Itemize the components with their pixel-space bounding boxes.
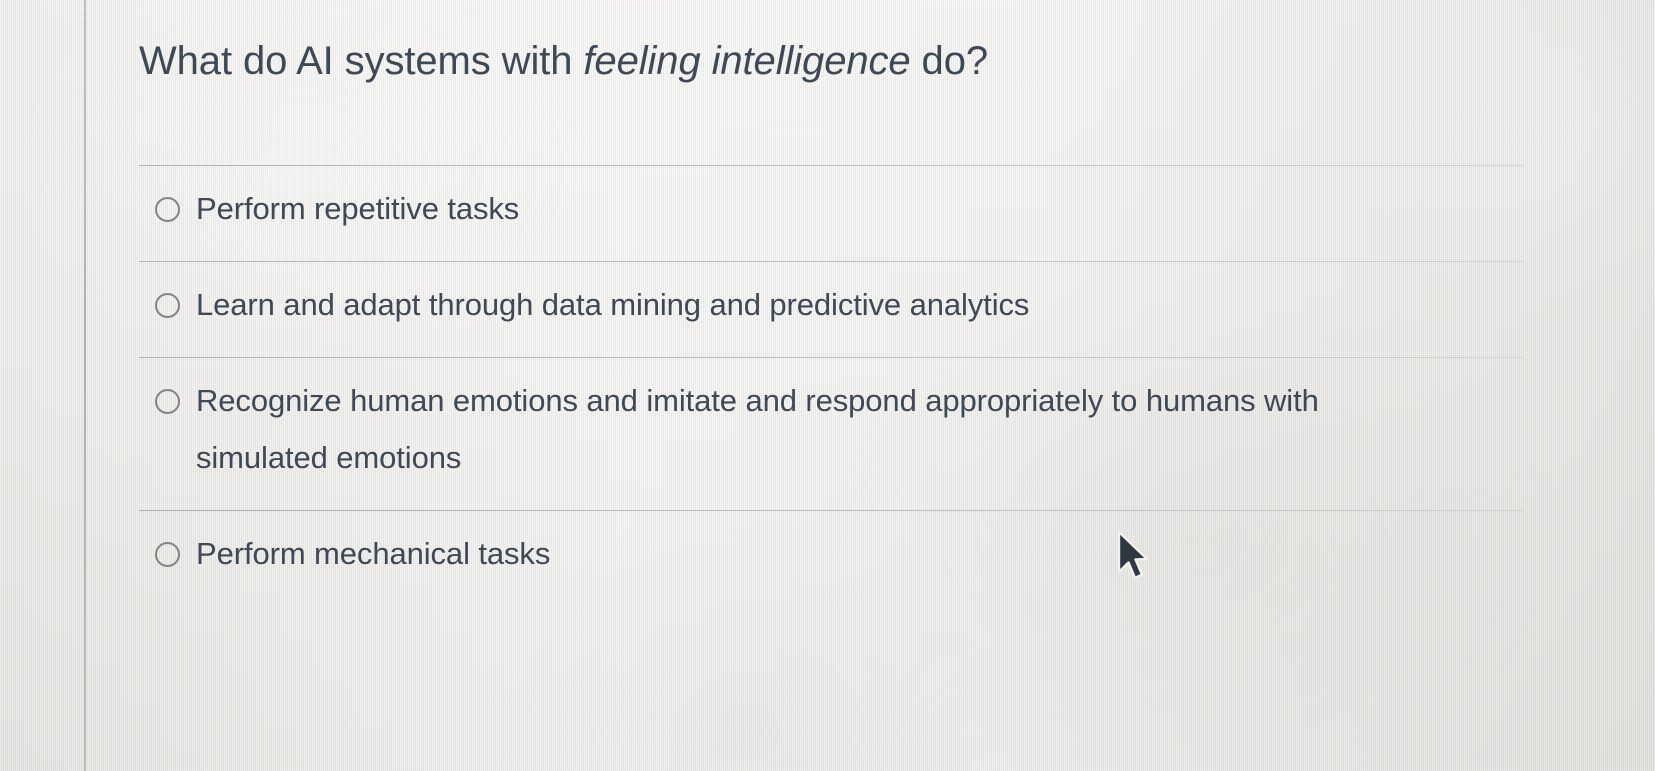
radio-unchecked-icon[interactable] [155,389,180,414]
question-text-emphasis: feeling intelligence [583,39,910,83]
answer-options-list: Perform repetitive tasks Learn and adapt… [139,165,1523,606]
answer-option-2[interactable]: Learn and adapt through data mining and … [139,262,1523,357]
radio-unchecked-icon[interactable] [155,293,180,318]
answer-option-1[interactable]: Perform repetitive tasks [139,166,1523,261]
radio-unchecked-icon[interactable] [155,542,180,567]
answer-option-label: Perform mechanical tasks [196,525,550,582]
question-text: What do AI systems with feeling intellig… [139,36,988,86]
answer-option-label: Perform repetitive tasks [196,180,519,237]
left-margin-rule [84,0,86,771]
answer-option-label: Recognize human emotions and imitate and… [196,372,1411,486]
question-text-before: What do AI systems with [139,39,583,83]
question-panel: What do AI systems with feeling intellig… [139,0,1539,771]
answer-option-3[interactable]: Recognize human emotions and imitate and… [139,358,1523,510]
answer-option-label: Learn and adapt through data mining and … [196,276,1029,333]
question-text-after: do? [911,39,988,83]
answer-option-4[interactable]: Perform mechanical tasks [139,511,1523,606]
radio-unchecked-icon[interactable] [155,197,180,222]
